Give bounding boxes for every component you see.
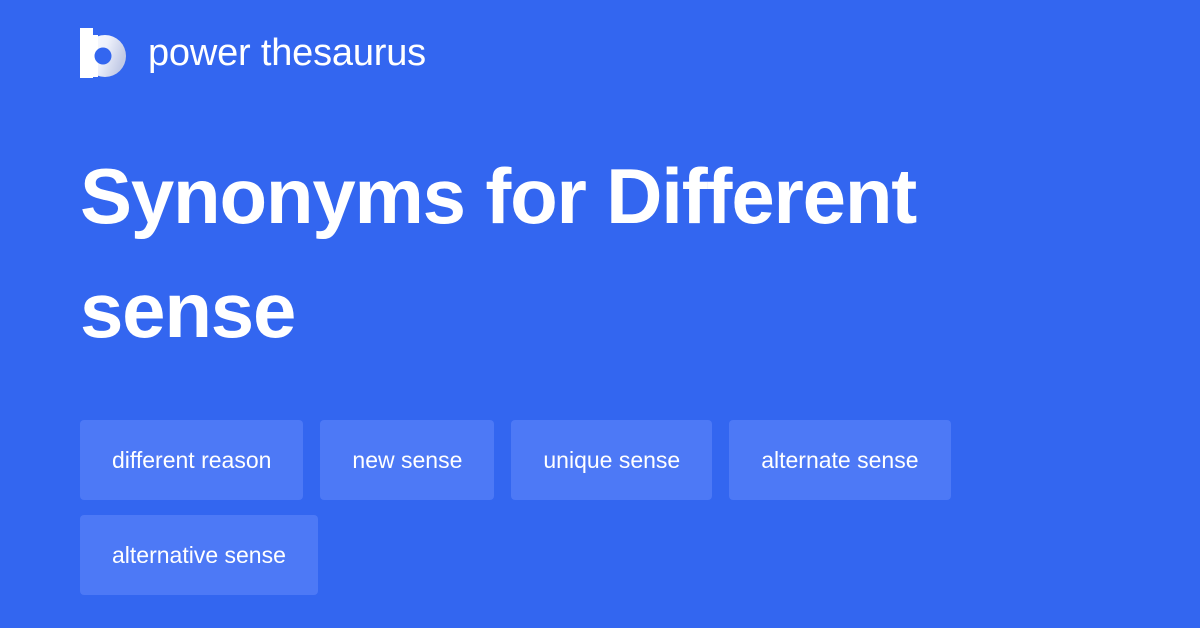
synonym-chip-list: different reason new sense unique sense … <box>80 420 1120 595</box>
brand-header[interactable]: power thesaurus <box>80 28 426 78</box>
synonym-chip[interactable]: alternative sense <box>80 515 318 595</box>
synonym-chip[interactable]: alternate sense <box>729 420 950 500</box>
share-card: power thesaurus Synonyms for Different s… <box>0 0 1200 628</box>
brand-name: power thesaurus <box>148 34 426 72</box>
synonym-chip[interactable]: new sense <box>320 420 494 500</box>
synonym-chip[interactable]: unique sense <box>511 420 712 500</box>
synonym-chip[interactable]: different reason <box>80 420 303 500</box>
page-title: Synonyms for Different sense <box>80 139 1080 367</box>
power-thesaurus-logo-icon <box>80 28 126 78</box>
